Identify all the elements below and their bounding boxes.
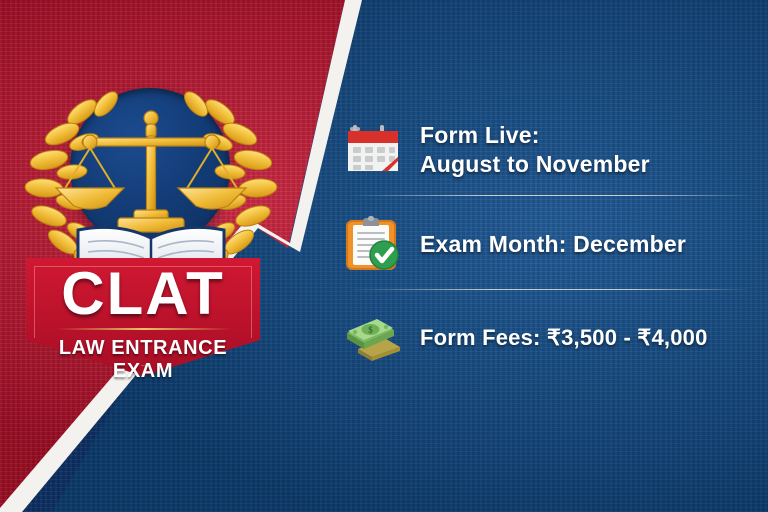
calendar-icon: [344, 121, 402, 179]
clat-subtitle: LAW ENTRANCE EXAM: [26, 337, 260, 383]
info-label-form-live: Form Live: August to November: [420, 121, 650, 179]
svg-text:$: $: [368, 325, 373, 335]
info-label-exam-month: Exam Month: December: [420, 230, 686, 259]
info-row-form-fees: $ Form Fees: ₹3,500 - ₹4,000: [344, 292, 760, 384]
money-stack-icon: $: [344, 309, 402, 367]
info-row-exam-month: Exam Month: December: [344, 198, 760, 290]
clipboard-check-icon: [344, 215, 402, 273]
info-label-form-fees: Form Fees: ₹3,500 - ₹4,000: [420, 324, 708, 352]
infographic-canvas: CLAT LAW ENTRANCE EXAM: [0, 0, 768, 512]
clat-title: CLAT: [26, 264, 260, 324]
row-separator-1: [348, 195, 752, 196]
row-separator-2: [348, 289, 752, 290]
info-row-form-live: Form Live: August to November: [344, 104, 760, 196]
clat-gold-divider: [56, 328, 232, 330]
exam-info-list: Form Live: August to November: [344, 104, 760, 384]
